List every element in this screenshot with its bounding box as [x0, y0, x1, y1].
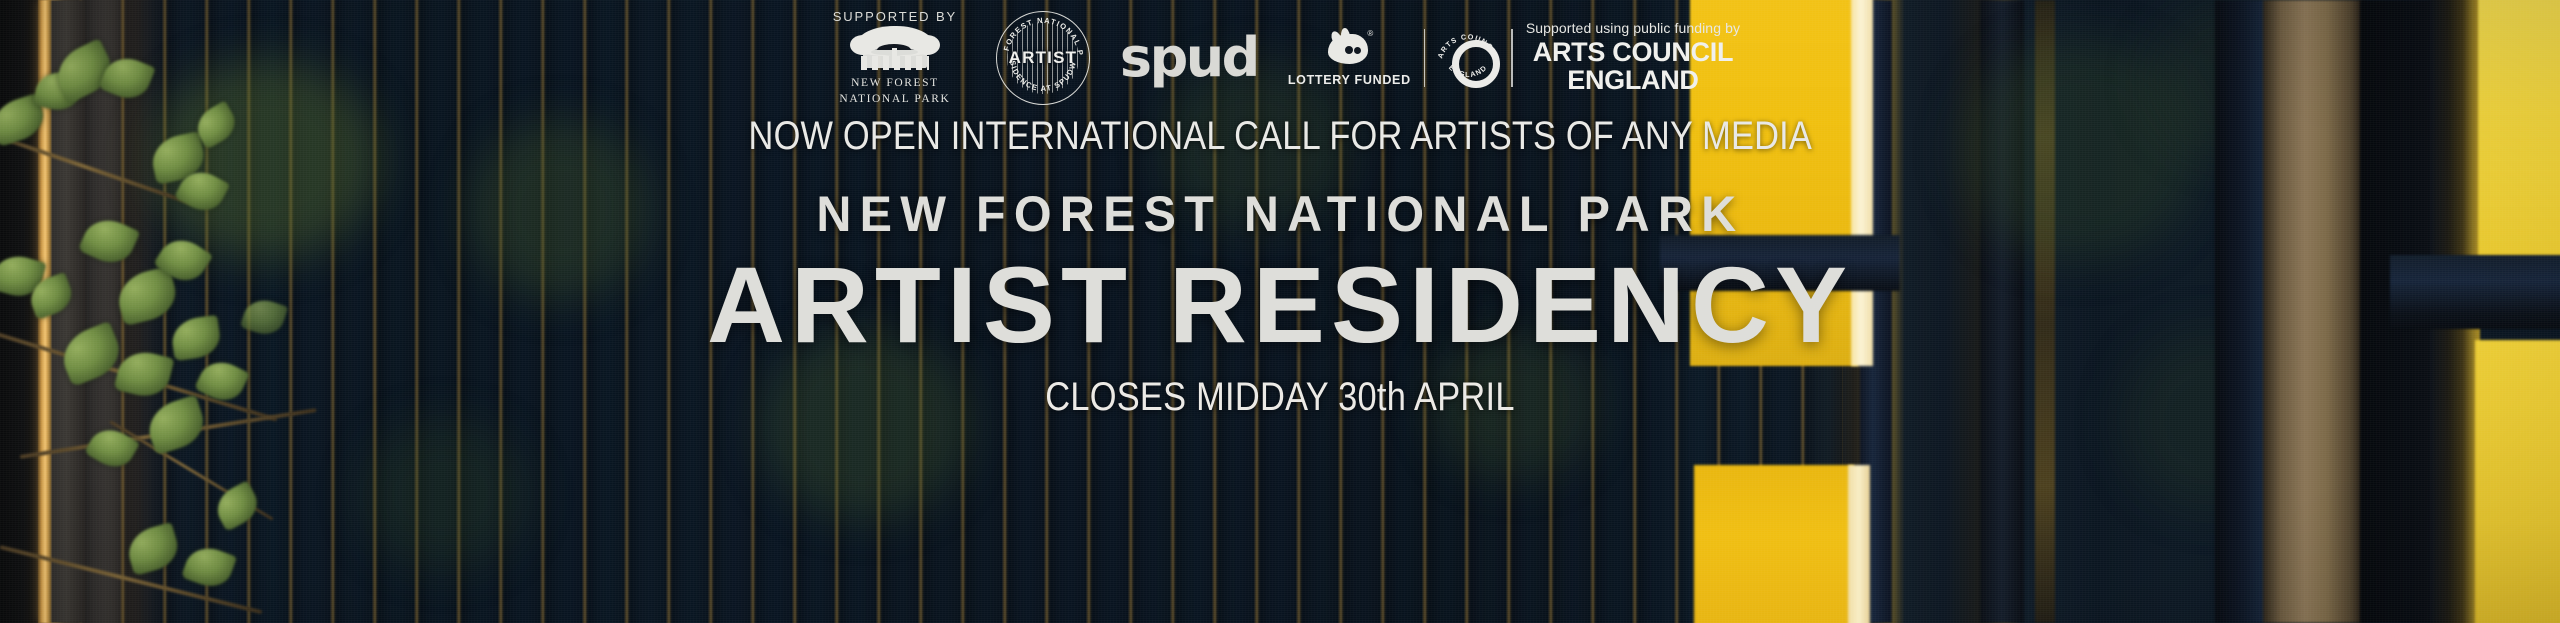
- lottery-funded-label: LOTTERY FUNDED: [1288, 73, 1411, 87]
- new-forest-national-park-logo: SUPPORTED BY NEW FOREST NATIONAL PARK: [820, 9, 970, 107]
- arts-council-line2: ENGLAND: [1526, 67, 1740, 95]
- national-park-name: NEW FOREST NATIONAL PARK: [839, 76, 950, 107]
- crossed-fingers-icon: ®: [1326, 30, 1372, 70]
- national-park-name-line2: NATIONAL PARK: [839, 92, 950, 108]
- svg-text:NEW FOREST NATIONAL PARK: NEW FOREST NATIONAL PARK: [997, 12, 1085, 56]
- sponsor-logo-strip: SUPPORTED BY NEW FOREST NATIONAL PARK: [820, 8, 1740, 108]
- spud-wordmark: spud: [1116, 36, 1262, 79]
- arts-council-wordmark: Supported using public funding by ARTS C…: [1526, 21, 1740, 94]
- artist-in-residence-roundel: NEW FOREST NATIONAL PARK IN RESIDENCE AT…: [996, 11, 1090, 105]
- lottery-funded-logo: ® LOTTERY FUNDED: [1288, 30, 1411, 87]
- oak-tree-and-ponies-icon: [849, 26, 941, 72]
- supported-by-label: SUPPORTED BY: [833, 9, 957, 24]
- svg-text:ARTS COUNCIL: ARTS COUNCIL: [1438, 32, 1498, 59]
- roundel-arc-top: NEW FOREST NATIONAL PARK: [997, 12, 1085, 56]
- arts-council-line1: ARTS COUNCIL: [1526, 39, 1740, 67]
- divider: [1424, 29, 1426, 87]
- deadline-text: CLOSES MIDDAY 30th APRIL: [1045, 375, 1515, 420]
- arts-council-seal-icon: ARTS COUNCIL ENGLAND: [1438, 28, 1498, 88]
- divider: [1511, 29, 1513, 87]
- svg-text:ENGLAND: ENGLAND: [1447, 63, 1489, 79]
- page-title: ARTIST RESIDENCY: [707, 249, 1853, 361]
- artist-residency-banner: SUPPORTED BY NEW FOREST NATIONAL PARK: [0, 0, 2560, 623]
- seal-arc-bottom: ENGLAND: [1447, 63, 1489, 79]
- seal-arc-text: ARTS COUNCIL ENGLAND: [1438, 28, 1498, 88]
- national-park-name-line1: NEW FOREST: [839, 76, 950, 92]
- subheadline: NEW FOREST NATIONAL PARK: [816, 185, 1744, 243]
- seal-arc-top: ARTS COUNCIL: [1438, 32, 1498, 59]
- registered-trademark-icon: ®: [1367, 29, 1373, 38]
- arts-council-england-logo: ® LOTTERY FUNDED ARTS COUNCIL ENGLAND: [1288, 21, 1740, 94]
- spud-logo: spud: [1116, 36, 1262, 79]
- roundel-seal: NEW FOREST NATIONAL PARK IN RESIDENCE AT…: [996, 11, 1090, 105]
- roundel-arc-text: NEW FOREST NATIONAL PARK IN RESIDENCE AT…: [997, 12, 1089, 104]
- arts-council-strapline: Supported using public funding by: [1526, 21, 1740, 35]
- banner-content: SUPPORTED BY NEW FOREST NATIONAL PARK: [0, 0, 2560, 623]
- open-call-kicker: NOW OPEN INTERNATIONAL CALL FOR ARTISTS …: [748, 114, 1811, 159]
